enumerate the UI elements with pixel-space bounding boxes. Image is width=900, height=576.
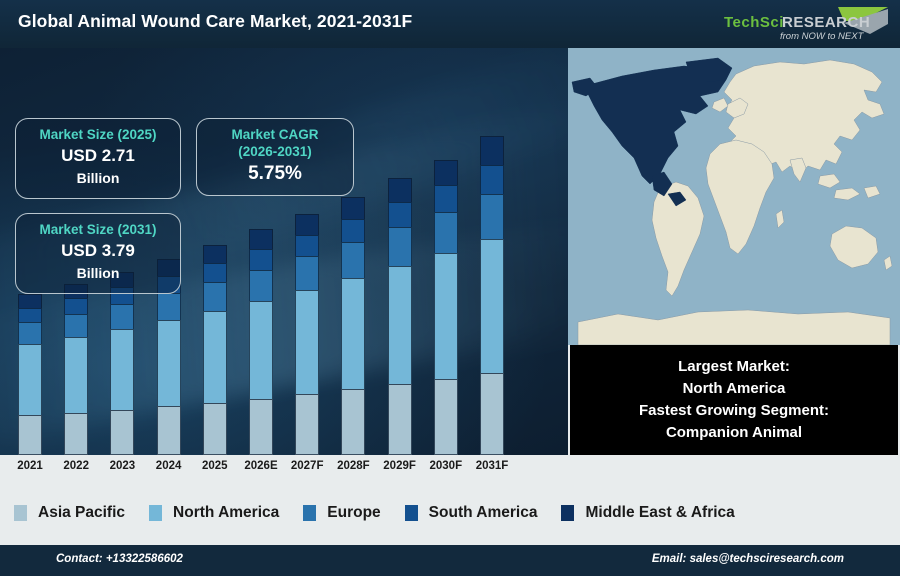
legend-swatch [405, 505, 418, 521]
fastest-segment-label: Fastest Growing Segment: [639, 400, 829, 422]
bar-segment [480, 165, 504, 194]
bar-segment [64, 337, 88, 413]
legend-item-north-america[interactable]: North America [149, 504, 279, 522]
kpi-unit: Billion [26, 263, 170, 284]
bar-segment [203, 403, 227, 455]
bar-segment [480, 373, 504, 455]
market-highlight-box: Largest Market: North America Fastest Gr… [570, 345, 898, 455]
footer-email: Email: sales@techsciresearch.com [652, 553, 844, 565]
kpi-value: 5.75% [207, 160, 343, 186]
kpi-label-period: (2026-2031) [207, 143, 343, 160]
bar-segment [249, 399, 273, 455]
bar-segment [110, 304, 134, 329]
fastest-segment-value: Companion Animal [666, 422, 802, 444]
kpi-label: Market Size (2031) [26, 221, 170, 239]
bar-segment [341, 278, 365, 389]
legend-label: South America [429, 504, 538, 522]
bar-segment [110, 329, 134, 410]
bar-segment [64, 413, 88, 455]
bar-segment [203, 245, 227, 263]
legend-item-middle-east-africa[interactable]: Middle East & Africa [561, 504, 734, 522]
kpi-market-size-2025: Market Size (2025) USD 2.71 Billion [15, 118, 181, 199]
bar-2029F [388, 178, 412, 455]
bar-segment [157, 320, 181, 406]
kpi-value: USD 2.71 [26, 144, 170, 168]
bar-segment [18, 322, 42, 344]
bar-segment [434, 379, 458, 455]
kpi-market-cagr: Market CAGR (2026-2031) 5.75% [196, 118, 354, 196]
bar-segment [203, 282, 227, 311]
header-bar: Global Animal Wound Care Market, 2021-20… [0, 0, 900, 48]
svg-text:RESEARCH: RESEARCH [782, 14, 870, 31]
largest-market-label: Largest Market: [678, 356, 790, 378]
bar-segment [249, 301, 273, 399]
bar-segment [341, 242, 365, 278]
bar-segment [18, 294, 42, 307]
x-tick-label: 2031F [469, 460, 515, 472]
bar-segment [434, 212, 458, 253]
x-tick-label: 2030F [423, 460, 469, 472]
chart-legend: Asia PacificNorth AmericaEuropeSouth Ame… [0, 481, 900, 545]
legend-swatch [303, 505, 316, 521]
bar-segment [388, 227, 412, 266]
x-tick-label: 2027F [284, 460, 330, 472]
bar-2028F [341, 197, 365, 455]
bar-2022 [64, 284, 88, 455]
bar-segment [64, 314, 88, 338]
legend-label: Europe [327, 504, 380, 522]
techsci-research-logo: TechSci RESEARCH from NOW to NEXT [720, 4, 892, 44]
largest-market-value: North America [683, 378, 786, 400]
legend-swatch [14, 505, 27, 521]
bar-2025 [203, 245, 227, 455]
bar-segment [388, 266, 412, 385]
bar-segment [295, 394, 319, 455]
bar-segment [388, 202, 412, 227]
bar-segment [480, 194, 504, 239]
bar-segment [434, 253, 458, 379]
legend-swatch [561, 505, 574, 521]
footer-bar: Contact: +13322586602 Email: sales@techs… [0, 545, 900, 576]
bar-2026E [249, 229, 273, 455]
bar-2021 [18, 294, 42, 455]
kpi-market-size-2031: Market Size (2031) USD 3.79 Billion [15, 213, 181, 294]
x-tick-label: 2024 [146, 460, 192, 472]
bar-segment [434, 185, 458, 212]
chart-panel: Market Size (2025) USD 2.71 Billion Mark… [0, 48, 568, 455]
x-tick-label: 2029F [377, 460, 423, 472]
bar-segment [203, 263, 227, 282]
bar-segment [295, 290, 319, 394]
bar-segment [249, 270, 273, 301]
bar-segment [18, 308, 42, 322]
x-tick-label: 2023 [99, 460, 145, 472]
legend-label: North America [173, 504, 279, 522]
legend-item-asia-pacific[interactable]: Asia Pacific [14, 504, 125, 522]
x-tick-label: 2026E [238, 460, 284, 472]
legend-item-south-america[interactable]: South America [405, 504, 538, 522]
x-tick-label: 2021 [7, 460, 53, 472]
world-map [568, 48, 900, 345]
kpi-label: Market Size (2025) [26, 126, 170, 144]
bar-segment [295, 214, 319, 234]
legend-label: Asia Pacific [38, 504, 125, 522]
bar-2031F [480, 136, 504, 455]
kpi-label: Market CAGR [207, 126, 343, 143]
x-tick-label: 2022 [53, 460, 99, 472]
bar-2027F [295, 214, 319, 455]
bar-2030F [434, 160, 458, 455]
footer-contact: Contact: +13322586602 [56, 553, 183, 565]
x-axis: 202120222023202420252026E2027F2028F2029F… [0, 455, 568, 481]
bar-segment [480, 136, 504, 165]
bar-segment [341, 197, 365, 219]
bar-2023 [110, 272, 134, 455]
legend-label: Middle East & Africa [585, 504, 734, 522]
bar-segment [18, 344, 42, 416]
infographic-page: Global Animal Wound Care Market, 2021-20… [0, 0, 900, 576]
bar-segment [341, 219, 365, 243]
x-tick-label: 2025 [192, 460, 238, 472]
bar-segment [434, 160, 458, 185]
bar-segment [64, 298, 88, 313]
bar-segment [157, 406, 181, 455]
bar-segment [388, 384, 412, 455]
bar-segment [341, 389, 365, 455]
kpi-unit: Billion [26, 168, 170, 189]
legend-swatch [149, 505, 162, 521]
bar-segment [249, 249, 273, 270]
bar-segment [203, 311, 227, 403]
world-map-svg [568, 48, 900, 345]
bar-segment [480, 239, 504, 374]
bar-segment [295, 256, 319, 290]
bar-segment [388, 178, 412, 202]
bar-segment [110, 410, 134, 455]
bar-segment [18, 415, 42, 455]
svg-text:TechSci: TechSci [724, 14, 784, 31]
x-tick-label: 2028F [330, 460, 376, 472]
bar-segment [295, 235, 319, 257]
kpi-value: USD 3.79 [26, 239, 170, 263]
svg-text:from NOW to NEXT: from NOW to NEXT [780, 31, 865, 42]
page-title: Global Animal Wound Care Market, 2021-20… [18, 11, 412, 32]
bar-segment [249, 229, 273, 248]
bar-segment [157, 293, 181, 320]
legend-item-europe[interactable]: Europe [303, 504, 380, 522]
